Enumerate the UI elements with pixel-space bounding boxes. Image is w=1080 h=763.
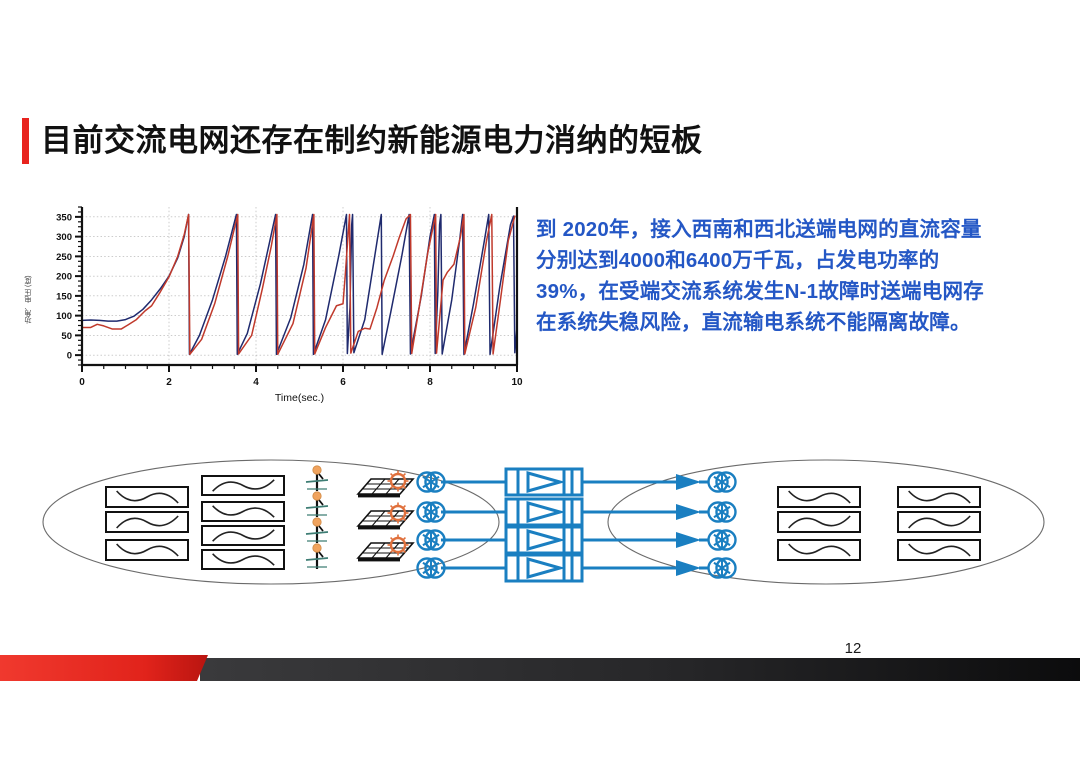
footer-dark-bar [200,658,1080,681]
title-accent-bar [22,118,29,164]
footer-bar [0,655,1080,681]
svg-text:6: 6 [340,377,346,388]
svg-text:8: 8 [427,377,433,388]
svg-text:10: 10 [511,377,523,388]
paragraph-line-4: 在系统失稳风险，直流输电系统不能隔离故障。 [536,307,1042,338]
svg-text:150: 150 [56,291,72,302]
svg-text:300: 300 [56,232,72,243]
footer-red-shape [0,655,208,681]
chart-y-axis-label: 功角、电压 (度) [24,255,38,345]
title-text: 目前交流电网还存在制约新能源电力消纳的短板 [41,118,703,164]
svg-text:0: 0 [67,351,72,362]
rotor-angle-chart: 0501001502002503003500246810Time(sec.) [24,193,524,408]
svg-text:350: 350 [56,212,72,223]
svg-text:4: 4 [253,377,259,388]
chart-svg: 0501001502002503003500246810Time(sec.) [24,193,524,408]
diagram-svg [36,452,1048,592]
svg-text:0: 0 [79,377,85,388]
body-paragraph: 到 2020年，接入西南和西北送端电网的直流容量 分别达到4000和6400万千… [536,214,1042,338]
paragraph-line-3: 39%，在受端交流系统发生N-1故障时送端电网存 [536,276,1042,307]
paragraph-line-2: 分别达到4000和6400万千瓦，占发电功率的 [536,245,1042,276]
svg-text:250: 250 [56,252,72,263]
svg-text:Time(sec.): Time(sec.) [275,392,324,404]
power-system-diagram [36,452,1048,592]
page-title: 目前交流电网还存在制约新能源电力消纳的短板 [22,118,703,164]
svg-text:100: 100 [56,311,72,322]
svg-text:200: 200 [56,272,72,283]
slide-root: 目前交流电网还存在制约新能源电力消纳的短板 050100150200250300… [0,0,1080,763]
svg-text:2: 2 [166,377,172,388]
paragraph-line-1: 到 2020年，接入西南和西北送端电网的直流容量 [536,214,1042,245]
svg-text:50: 50 [61,331,72,342]
